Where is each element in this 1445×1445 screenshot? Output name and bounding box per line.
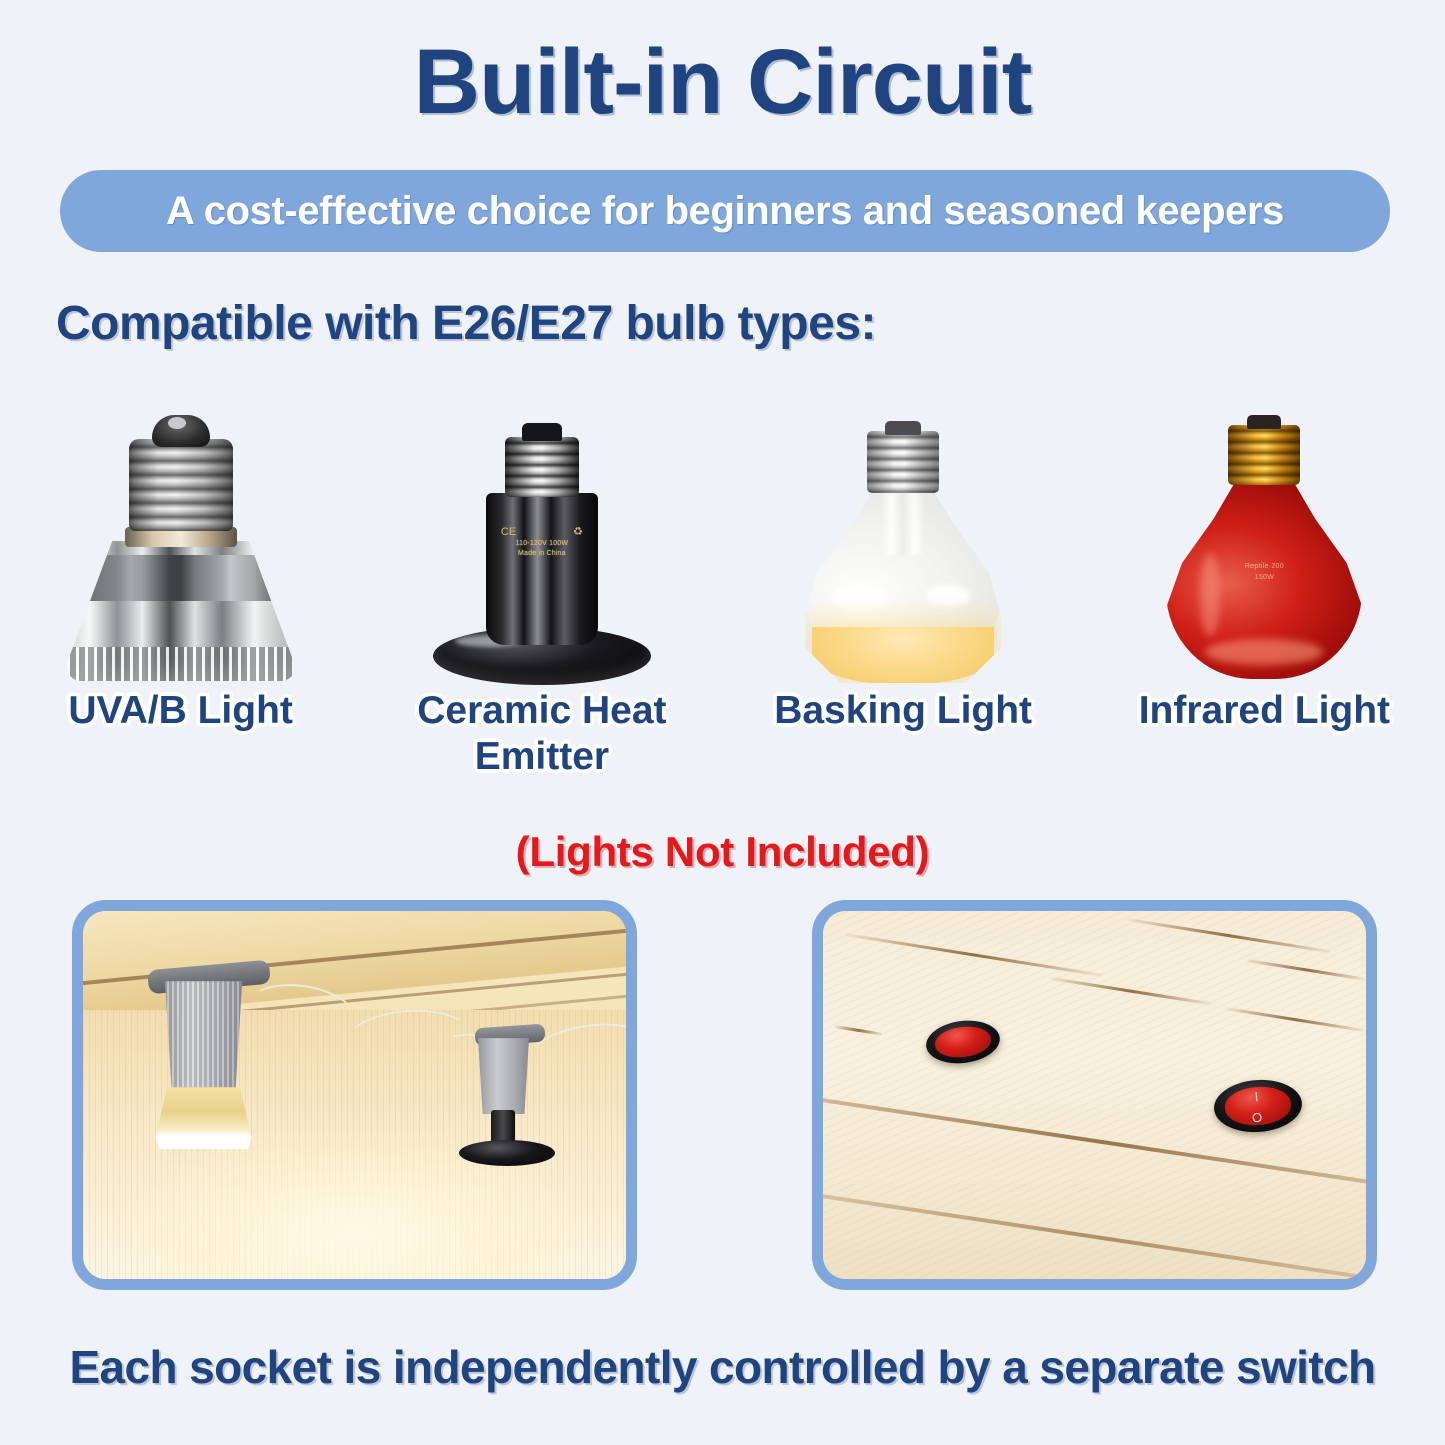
photo-sockets-installed [72,900,637,1290]
uva-contact-cap [152,415,210,447]
ceramic-contact-tip [522,423,562,441]
basking-highlight-left [833,585,887,611]
basking-screw-base [867,431,939,493]
socket-housing [475,1038,533,1114]
ceramic-socket-lit [154,977,252,1117]
ce-mark: CE [501,527,516,538]
recycle-mark: ♻ [573,527,583,538]
basking-bulb-icon [803,421,1003,685]
subtitle-banner: A cost-effective choice for beginners an… [60,170,1390,252]
subtitle-text: A cost-effective choice for beginners an… [166,189,1284,234]
bulb-label-ceramic: Ceramic Heat Emitter [361,688,722,779]
compatibility-heading: Compatible with E26/E27 bulb types: [56,296,876,351]
infrared-brand-label: Reptile·200 150W [1216,561,1312,583]
basking-glow [812,627,994,685]
bulb-item-uva [0,385,361,685]
rocker-switch-1-button[interactable] [933,1024,993,1061]
ceramic-socket-with-emitter [469,1036,543,1166]
uva-screw-base [129,439,233,531]
ceramic-body: CE ♻ 110-120V 100W Made in China [486,493,598,645]
emitter-base-disc [459,1140,555,1166]
installed-spot-bulb [156,1087,252,1149]
ceramic-certification-marks: CE ♻ [501,527,583,538]
infrared-glass: Reptile·200 150W [1166,479,1362,679]
switch-on-mark: I [1254,1090,1259,1103]
uva-spot-bulb-icon [66,415,296,685]
infrared-brand: Reptile·200 [1216,561,1312,572]
socket-scene [83,911,626,1279]
bulb-item-ceramic: CE ♻ 110-120V 100W Made in China [361,385,722,685]
ceramic-heat-emitter-icon: CE ♻ 110-120V 100W Made in China [432,423,652,685]
lights-not-included-note: (Lights Not Included) [0,828,1445,876]
infrared-contact-tip [1247,415,1281,429]
bulb-label-row: UVA/B Light Ceramic Heat Emitter Basking… [0,688,1445,779]
ceramic-voltage-wattage: 110-120V 100W [490,539,594,549]
bulb-label-uva: UVA/B Light [0,688,361,779]
uva-reflector [67,541,295,681]
switch-panel-scene: I O [823,911,1366,1279]
bulb-gallery: CE ♻ 110-120V 100W Made in China [0,385,1445,685]
photo-switch-panel: I O [812,900,1377,1290]
infrared-bulb-icon: Reptile·200 150W [1164,415,1364,685]
ceramic-screw-base [505,437,579,497]
basking-contact-tip [885,421,921,435]
infrared-screw-base [1228,425,1300,485]
basking-highlight-right [925,585,971,607]
ceramic-origin: Made in China [490,549,594,559]
infrared-rating: 150W [1216,572,1312,583]
bulb-label-basking: Basking Light [723,688,1084,779]
footer-caption: Each socket is independently controlled … [0,1340,1445,1394]
switch-off-mark: O [1252,1111,1263,1125]
infrared-bottom-highlight [1205,639,1323,665]
rocker-switch-2-button[interactable]: I O [1223,1085,1292,1127]
socket-housing [162,981,246,1091]
bulb-label-infrared: Infrared Light [1084,688,1445,779]
bulb-item-infrared: Reptile·200 150W [1084,385,1445,685]
page-title: Built-in Circuit [0,34,1445,131]
ceramic-rating-label: 110-120V 100W Made in China [490,539,594,559]
basking-filament [881,493,925,555]
bulb-item-basking [723,385,1084,685]
